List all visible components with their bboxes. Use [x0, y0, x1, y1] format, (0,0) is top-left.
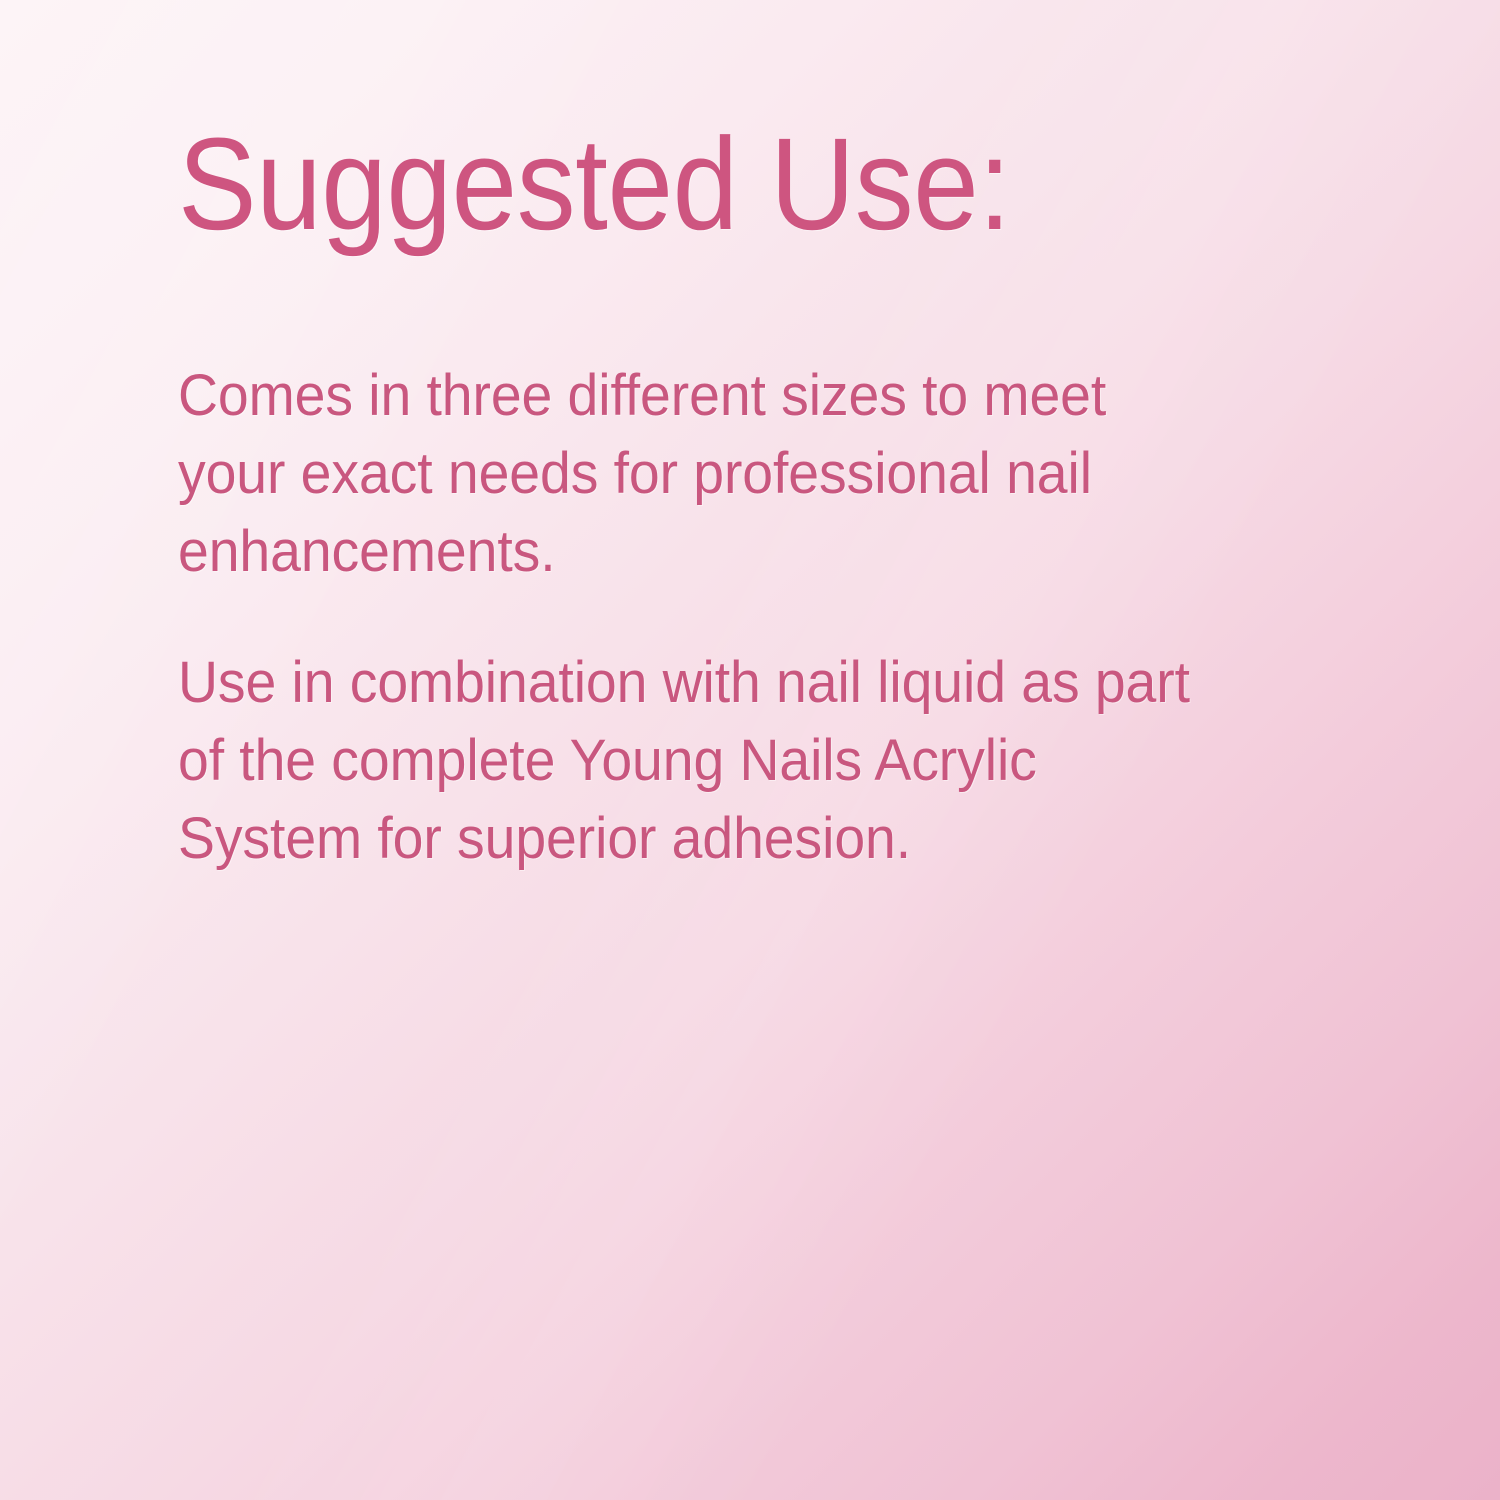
page-title: Suggested Use:: [178, 118, 1011, 249]
body-paragraph: Use in combination with nail liquid as p…: [178, 644, 1219, 878]
suggested-use-panel: Suggested Use: Comes in three different …: [0, 0, 1500, 1500]
paragraph-block-system: Use in combination with nail liquid as p…: [178, 644, 1268, 878]
body-paragraph: Comes in three different sizes to meet y…: [178, 357, 1219, 591]
paragraph-block-sizes: Comes in three different sizes to meet y…: [178, 357, 1268, 591]
